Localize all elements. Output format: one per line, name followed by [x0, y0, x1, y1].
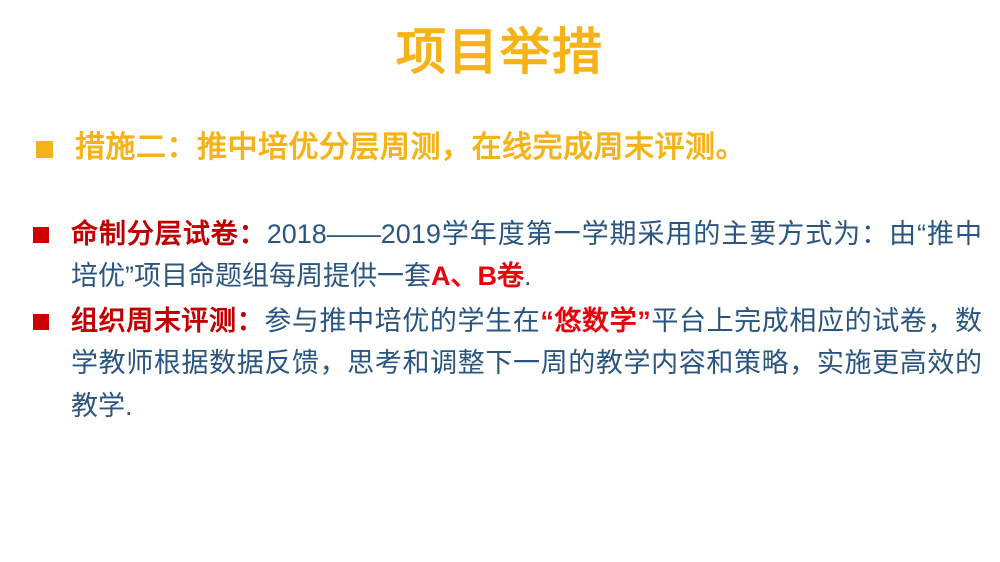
page-title: 项目举措 — [0, 22, 1000, 82]
slide-body: 措施二：推中培优分层周测，在线完成周末评测。 命制分层试卷：2018——2019… — [0, 128, 1000, 430]
bullet-item-exam-papers: 命制分层试卷：2018——2019学年度第一学期采用的主要方式为：由“推中培优”… — [0, 213, 1000, 298]
red-square-bullet-icon — [33, 227, 49, 243]
gold-square-bullet-icon — [36, 141, 53, 158]
bullet-body-weekend-assessment-part1: 参与推中培优的学生在 — [264, 306, 540, 336]
bullet-lead-exam-papers: 命制分层试卷： — [71, 219, 267, 249]
bullet-text-exam-papers: 命制分层试卷：2018——2019学年度第一学期采用的主要方式为：由“推中培优”… — [71, 213, 982, 298]
bullet-item-measure-two: 措施二：推中培优分层周测，在线完成周末评测。 — [0, 128, 1000, 169]
bullet-highlight-weekend-assessment: “悠数学” — [540, 306, 650, 336]
bullet-label-measure-two: 措施二：推中培优分层周测，在线完成周末评测。 — [75, 128, 746, 169]
bullet-item-weekend-assessment: 组织周末评测：参与推中培优的学生在“悠数学”平台上完成相应的试卷，数学教师根据数… — [0, 300, 1000, 428]
bullet-lead-weekend-assessment: 组织周末评测： — [71, 306, 264, 336]
bullet-body-exam-papers-part2: . — [524, 261, 532, 291]
bullet-highlight-exam-papers: A、B卷 — [431, 261, 524, 291]
red-square-bullet-icon — [33, 314, 49, 330]
bullet-text-weekend-assessment: 组织周末评测：参与推中培优的学生在“悠数学”平台上完成相应的试卷，数学教师根据数… — [71, 300, 982, 428]
presentation-slide: 项目举措 措施二：推中培优分层周测，在线完成周末评测。 命制分层试卷：2018—… — [0, 0, 1000, 562]
